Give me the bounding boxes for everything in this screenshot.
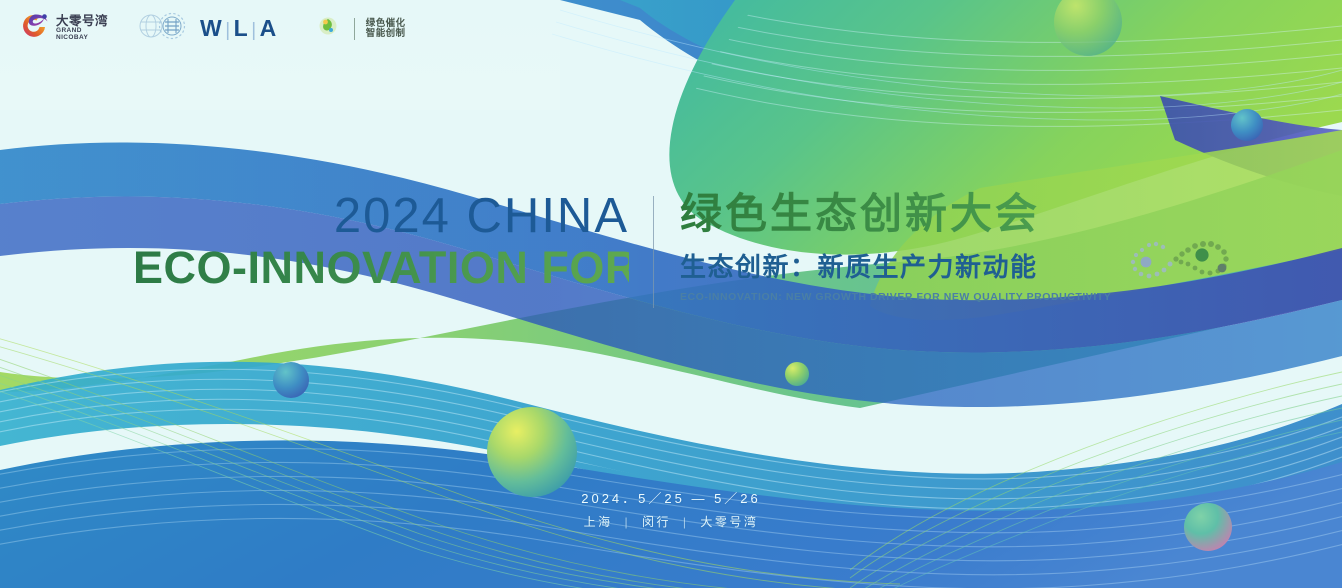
event-location-sep-2: |	[683, 515, 689, 529]
event-location-city: 上海	[584, 515, 613, 529]
sponsor-logo-bar: 大零号湾 GRAND NICOBAY	[14, 8, 405, 49]
infinity-node-blue	[1141, 257, 1152, 268]
conference-title-block: 2024 CHINA ECO-INNOVATION FORUM 绿色生态创新大会…	[133, 190, 1111, 308]
logo-green-catalysis[interactable]: 绿色催化 智能创制	[303, 9, 406, 48]
decor-sphere-left	[273, 362, 309, 398]
logo-wla-l: L	[234, 15, 249, 42]
logo-grand-nicobay[interactable]: 大零号湾 GRAND NICOBAY	[14, 10, 108, 47]
globe-laurel-icon	[134, 8, 194, 49]
leaf-globe-icon	[303, 9, 343, 48]
logo-gcat-cn1: 绿色催化	[366, 19, 406, 29]
conference-banner: 大零号湾 GRAND NICOBAY	[0, 0, 1342, 588]
event-location-district: 闵行	[642, 515, 671, 529]
title-chinese-subtitle: 生态创新：新质生产力新动能	[680, 247, 1111, 284]
logo-gcat-cn2: 智能创制	[366, 29, 406, 39]
title-chinese-main: 绿色生态创新大会	[680, 190, 1111, 238]
event-location: 上海 | 闵行 | 大零号湾	[0, 512, 1342, 534]
event-location-sep-1: |	[625, 515, 631, 529]
logo-gnb-en2: NICOBAY	[56, 35, 108, 42]
logo-green-catalysis-text: 绿色催化 智能创制	[366, 19, 406, 39]
decor-sphere-mid	[785, 362, 809, 386]
title-english-subtitle: ECO-INNOVATION: NEW GROWTH DRIVER FOR NE…	[680, 291, 1111, 303]
event-location-venue: 大零号湾	[700, 515, 758, 529]
ring-swirl-icon	[14, 10, 50, 47]
logo-wla-wordmark: W | L | A	[200, 15, 277, 42]
infinity-node-green	[1195, 248, 1208, 261]
title-eco-innovation-forum: ECO-INNOVATION FORUM	[133, 243, 629, 293]
title-year-china: 2024 CHINA	[133, 190, 629, 243]
event-info-footer: 2024．5／25 — 5／26 上海 | 闵行 | 大零号湾	[0, 487, 1342, 533]
logo-wla-a: A	[260, 15, 277, 42]
decor-sphere-topright	[1231, 109, 1263, 141]
logo-grand-nicobay-text: 大零号湾 GRAND NICOBAY	[56, 15, 108, 42]
title-english-group: 2024 CHINA ECO-INNOVATION FORUM	[133, 190, 653, 293]
logo-wla-w: W	[200, 15, 222, 42]
event-date: 2024．5／25 — 5／26	[0, 487, 1342, 512]
title-chinese-group: 绿色生态创新大会 生态创新：新质生产力新动能 ECO-INNOVATION: N…	[654, 190, 1111, 303]
infinity-dots-icon	[1118, 218, 1258, 303]
logo-wla-sep1: |	[225, 20, 230, 42]
logo-wla[interactable]: W | L | A	[134, 8, 277, 49]
logo-gcat-divider	[354, 18, 355, 40]
title-vertical-divider	[653, 196, 654, 308]
infinity-node-dark	[1218, 264, 1227, 273]
logo-wla-sep2: |	[251, 20, 256, 42]
decor-sphere-center	[487, 407, 577, 497]
